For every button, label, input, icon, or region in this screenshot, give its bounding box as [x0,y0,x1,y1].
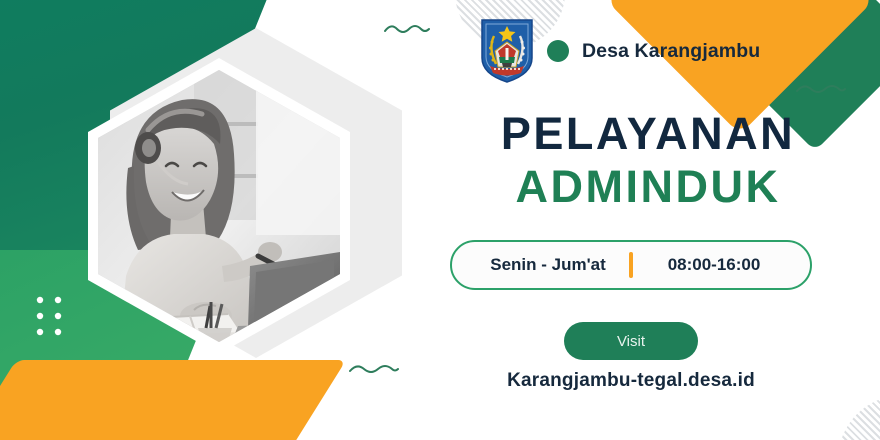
headline-line-1: PELAYANAN [448,110,848,157]
banner-content: Desa Karangjambu PELAYANAN ADMINDUK Seni… [448,0,848,440]
brand-name: Desa Karangjambu [582,40,760,63]
visit-button[interactable]: Visit [564,322,698,360]
brand-row: Desa Karangjambu [480,18,760,84]
orange-angled-decoration [0,360,346,440]
headline-line-2: ADMINDUK [448,163,848,210]
kabupaten-tegal-crest-icon [480,18,534,84]
schedule-hours: 08:00-16:00 [639,255,789,275]
wavy-line-icon-left [383,22,431,41]
green-dot-icon [547,40,569,62]
page-title: PELAYANAN ADMINDUK [448,110,848,211]
schedule-badge: Senin - Jum'at 08:00-16:00 [450,240,812,290]
website-url-link[interactable]: Karangjambu-tegal.desa.id [450,370,812,392]
schedule-days: Senin - Jum'at [473,255,623,275]
promo-banner: Desa Karangjambu PELAYANAN ADMINDUK Seni… [0,0,880,440]
wavy-line-icon-bottom [348,362,400,381]
dot-grid-icon [36,296,66,341]
schedule-separator [629,252,633,278]
